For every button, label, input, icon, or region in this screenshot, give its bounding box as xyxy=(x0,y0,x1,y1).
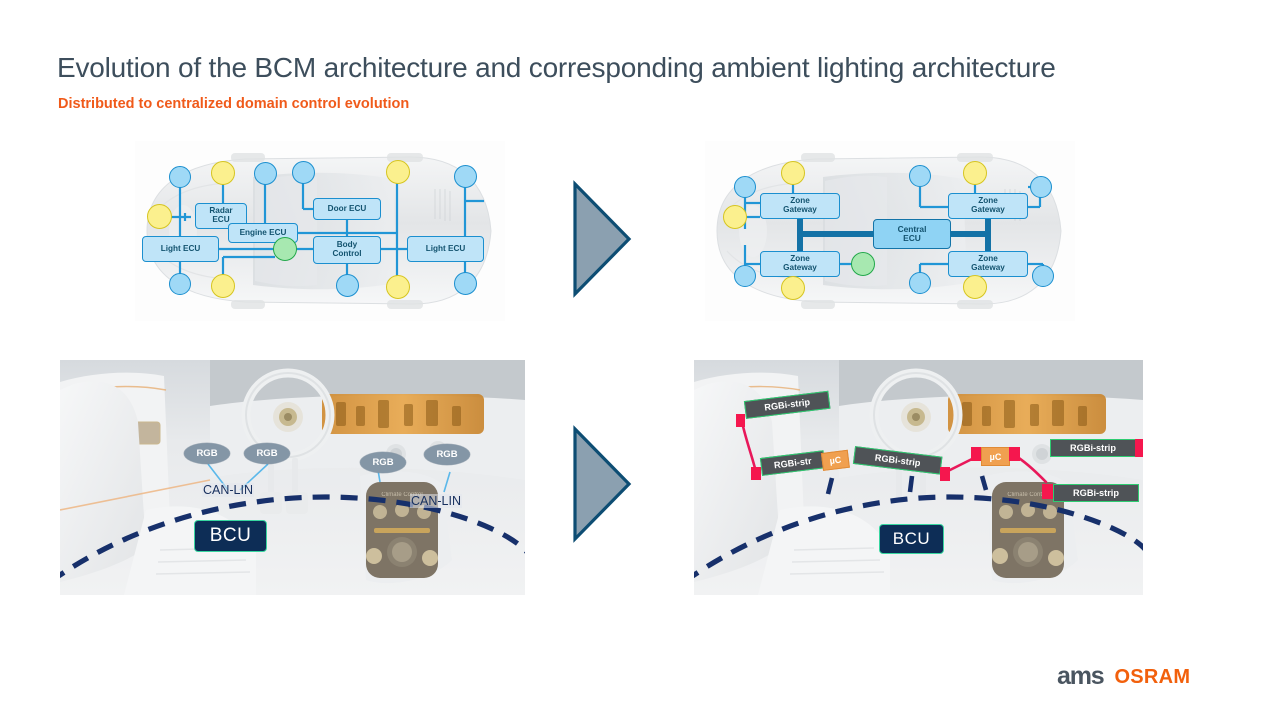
strip-endcap xyxy=(1009,447,1020,461)
sensor-dot-blue xyxy=(909,165,931,187)
sensor-dot-blue xyxy=(454,272,477,295)
sensor-dot-blue xyxy=(734,176,756,198)
page-subtitle: Distributed to centralized domain contro… xyxy=(58,96,409,112)
sensor-dot-blue xyxy=(734,265,756,287)
strip-endcap xyxy=(940,467,950,481)
rgb-label: RGB xyxy=(360,452,406,473)
sensor-dot-blue xyxy=(909,272,931,294)
ams-wordmark: ams xyxy=(1057,664,1103,689)
car-top-view-distributed xyxy=(135,141,505,321)
page-title: Evolution of the BCM architecture and co… xyxy=(57,52,1056,84)
rgb-label: RGB xyxy=(184,443,230,464)
sensor-dot-blue xyxy=(169,166,191,188)
sensor-dot-yellow xyxy=(723,205,747,229)
car-interior-photo-future: Climate Control xyxy=(694,360,1143,595)
sensor-dot-green xyxy=(273,237,297,261)
sensor-dot-yellow xyxy=(781,161,805,185)
strip-endcap xyxy=(736,414,745,427)
node-light-ecu-right[interactable]: Light ECU xyxy=(407,236,484,262)
diagram-centralized-panel: ZoneGateway ZoneGateway ZoneGateway Zone… xyxy=(705,141,1075,321)
uc-box: µC xyxy=(821,450,850,471)
interior-future-panel: Climate Control xyxy=(694,360,1143,595)
node-zone-gateway-fr[interactable]: ZoneGateway xyxy=(948,193,1028,219)
node-zone-gateway-rr[interactable]: ZoneGateway xyxy=(948,251,1028,277)
sensor-dot-blue xyxy=(1030,176,1052,198)
node-zone-gateway-fl[interactable]: ZoneGateway xyxy=(760,193,840,219)
bus-label-can-lin: CAN-LIN xyxy=(410,494,462,508)
sensor-dot-blue xyxy=(292,161,315,184)
node-zone-gateway-rl[interactable]: ZoneGateway xyxy=(760,251,840,277)
sensor-dot-yellow xyxy=(963,275,987,299)
rgb-label: RGB xyxy=(244,443,290,464)
sensor-dot-yellow xyxy=(211,161,235,185)
bus-label-can-lin: CAN-LIN xyxy=(202,483,254,497)
car-interior-photo-today: Climate Control xyxy=(60,360,525,595)
node-body-control[interactable]: BodyControl xyxy=(313,236,381,264)
slide-root: Evolution of the BCM architecture and co… xyxy=(0,0,1270,714)
sensor-dot-blue xyxy=(1032,265,1054,287)
rgbi-strip-label: RGBi-strip xyxy=(1050,439,1136,457)
sensor-dot-yellow xyxy=(781,276,805,300)
strip-endcap xyxy=(1042,484,1053,499)
sensor-dot-yellow xyxy=(147,204,172,229)
evolution-arrow-top xyxy=(570,180,634,298)
uc-box: µC xyxy=(981,447,1010,466)
strip-endcap xyxy=(751,467,761,480)
node-central-ecu[interactable]: CentralECU xyxy=(873,219,951,249)
brand-logo: ams OSRAM xyxy=(1057,664,1190,689)
rgb-label: RGB xyxy=(424,444,470,465)
interior-today-panel: Climate Control xyxy=(60,360,525,595)
bcu-badge: BCU xyxy=(194,520,267,552)
evolution-arrow-bottom xyxy=(570,425,634,543)
rgbi-strip-label: RGBi-strip xyxy=(1053,484,1139,502)
bcu-badge: BCU xyxy=(879,524,944,554)
sensor-dot-green xyxy=(851,252,875,276)
sensor-dot-yellow xyxy=(963,161,987,185)
sensor-dot-yellow xyxy=(386,160,410,184)
node-door-ecu[interactable]: Door ECU xyxy=(313,198,381,220)
sensor-dot-blue xyxy=(254,162,277,185)
node-light-ecu-left[interactable]: Light ECU xyxy=(142,236,219,262)
osram-wordmark: OSRAM xyxy=(1114,667,1190,687)
sensor-dot-blue xyxy=(336,274,359,297)
diagram-distributed-panel: RadarECU Engine ECU Door ECU BodyControl… xyxy=(135,141,505,321)
sensor-dot-blue xyxy=(169,273,191,295)
sensor-dot-yellow xyxy=(211,274,235,298)
sensor-dot-blue xyxy=(454,165,477,188)
sensor-dot-yellow xyxy=(386,275,410,299)
strip-endcap xyxy=(1135,439,1143,457)
